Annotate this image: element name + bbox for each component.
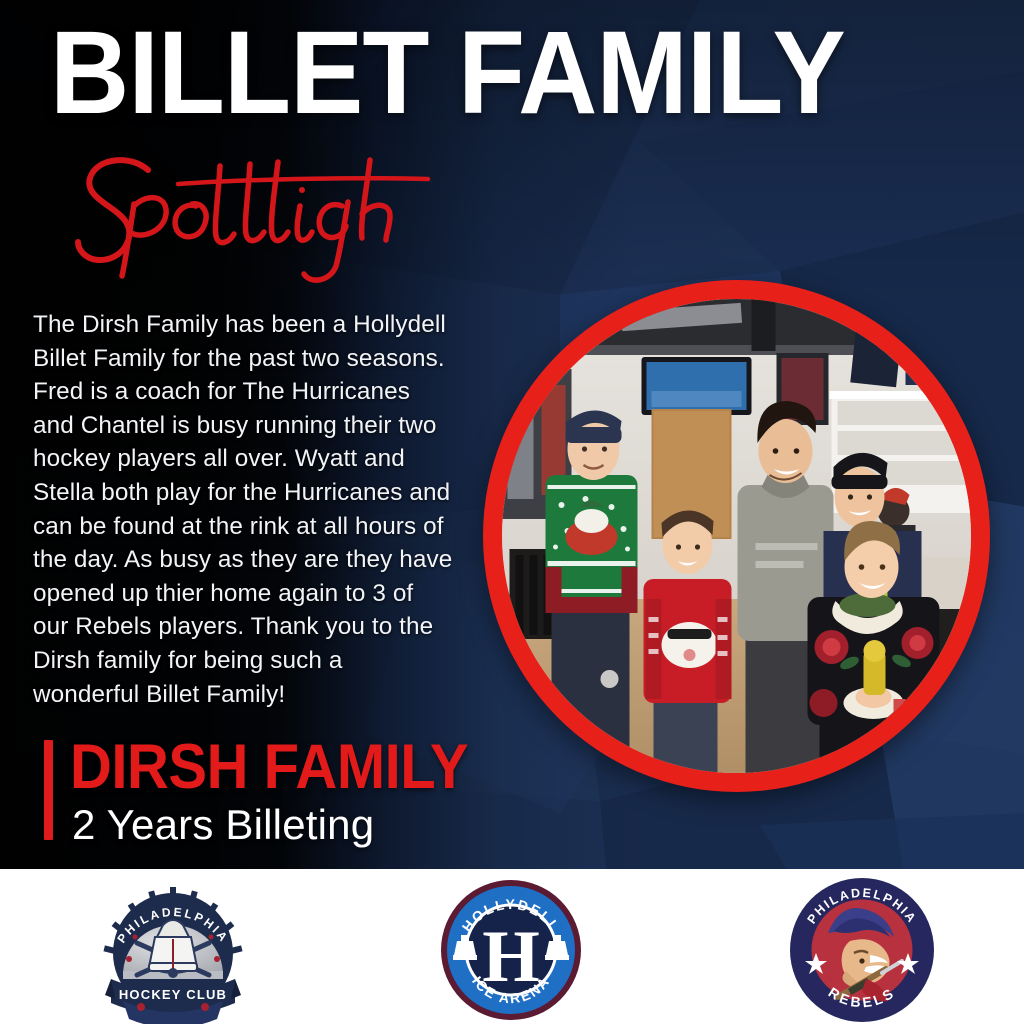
logo-philadelphia-rebels[interactable]: PHILADELPHIA REBELS bbox=[782, 875, 942, 1024]
family-name: DIRSH FAMILY bbox=[70, 736, 468, 798]
spotlight-script-word bbox=[60, 148, 460, 278]
logo-hollydell-ice-arena[interactable]: H HOLLYDELL ICE ARENA bbox=[437, 879, 585, 1021]
caption-block: DIRSH FAMILY 2 Years Billeting bbox=[44, 736, 474, 848]
red-accent-bar bbox=[44, 740, 53, 840]
logo-footer: PHILADELPHIA HOCKEY CLUB bbox=[0, 869, 1024, 1024]
photo-red-ring bbox=[483, 280, 990, 792]
page-title: BILLET FAMILY bbox=[50, 16, 664, 132]
phc-bottom-text: HOCKEY CLUB bbox=[119, 987, 227, 1002]
family-photo bbox=[502, 299, 971, 773]
billet-family-spotlight-poster: BILLET FAMILY bbox=[0, 0, 1024, 1024]
logo-philadelphia-hockey-club[interactable]: PHILADELPHIA HOCKEY CLUB bbox=[93, 875, 253, 1024]
years-billeting: 2 Years Billeting bbox=[72, 801, 374, 849]
body-paragraph: The Dirsh Family has been a Hollydell Bi… bbox=[33, 308, 453, 711]
